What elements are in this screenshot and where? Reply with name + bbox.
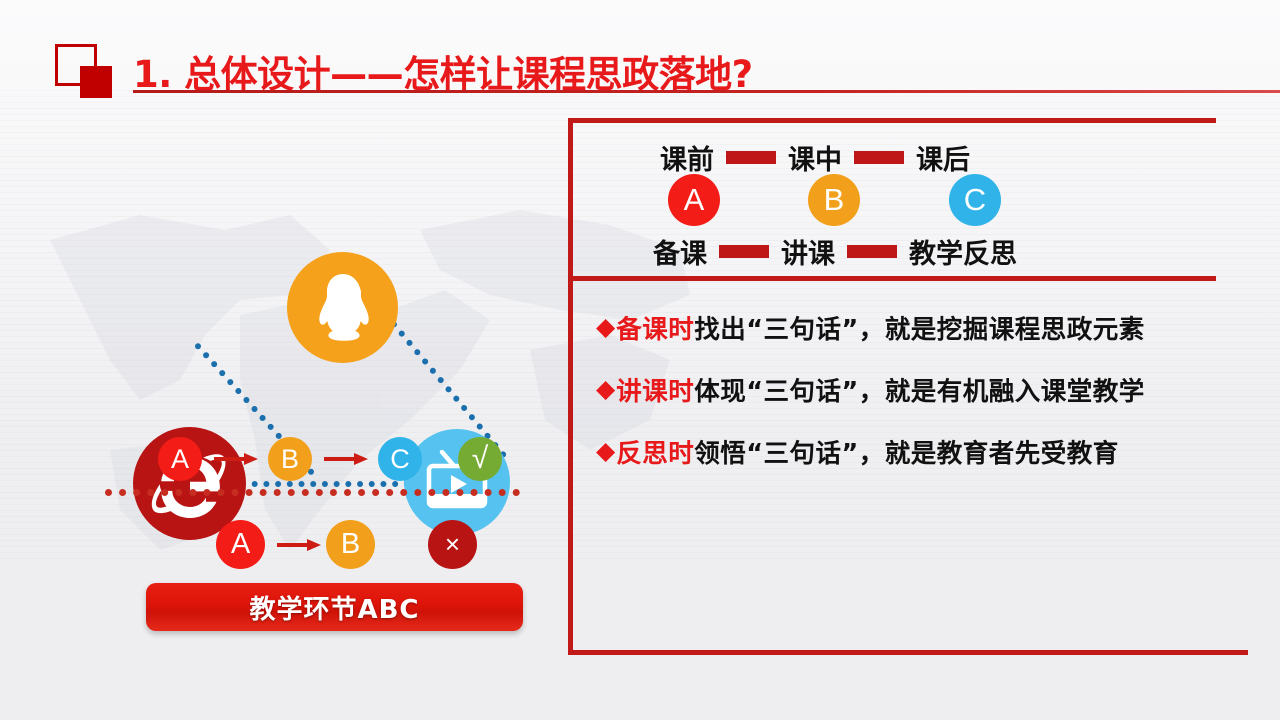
bullet-rest: 体现“三句话”，就是有机融入课堂教学 bbox=[694, 377, 1145, 407]
timeline-dash-icon bbox=[847, 245, 897, 258]
right-content-panel: 课前 课中 课后 A B C 备课 讲课 教学反思 ◆ 备课时找出“三句话”，就… bbox=[568, 118, 1248, 660]
timeline-dash-icon bbox=[726, 151, 776, 164]
bullet-text: 讲课时体现“三句话”，就是有机融入课堂教学 bbox=[616, 368, 1145, 416]
timeline-top-item-2: 课后 bbox=[916, 138, 970, 177]
timeline-badge-c[interactable]: C bbox=[949, 174, 1001, 226]
bullet-highlight: 反思时 bbox=[616, 439, 694, 469]
panel-border-left bbox=[568, 118, 573, 655]
qq-penguin-icon bbox=[314, 272, 372, 344]
timeline-top-item-1: 课中 bbox=[788, 138, 842, 177]
panel-border-top bbox=[568, 118, 1216, 123]
timeline-bottom-item-0: 备课 bbox=[653, 232, 707, 271]
bullet-highlight: 备课时 bbox=[616, 315, 694, 345]
list-item: ◆ 反思时领悟“三句话”，就是教育者先受教育 bbox=[596, 430, 1208, 478]
list-item: ◆ 备课时找出“三句话”，就是挖掘课程思政元素 bbox=[596, 306, 1208, 354]
diamond-bullet-icon: ◆ bbox=[596, 430, 615, 478]
flow-arrow-1 bbox=[214, 453, 258, 465]
bullet-text: 备课时找出“三句话”，就是挖掘课程思政元素 bbox=[616, 306, 1145, 354]
cross-badge[interactable]: × bbox=[428, 520, 477, 569]
flow2-badge-b[interactable]: B bbox=[326, 520, 375, 569]
title-underline bbox=[133, 90, 1280, 93]
timeline-dash-icon bbox=[854, 151, 904, 164]
slide-canvas: 1. 总体设计——怎样让课程思政落地? bbox=[0, 0, 1280, 720]
diamond-bullet-icon: ◆ bbox=[596, 306, 615, 354]
flow-badge-b[interactable]: B bbox=[268, 437, 312, 481]
slide-header: 1. 总体设计——怎样让课程思政落地? bbox=[0, 18, 1280, 90]
bullet-highlight: 讲课时 bbox=[616, 377, 694, 407]
qq-penguin-node[interactable] bbox=[287, 252, 398, 363]
flow-badge-c[interactable]: C bbox=[378, 437, 422, 481]
timeline-badge-a[interactable]: A bbox=[668, 174, 720, 226]
checkmark-badge[interactable]: √ bbox=[458, 437, 502, 481]
banner-label: 教学环节ABC bbox=[249, 589, 419, 626]
flow-badge-a[interactable]: A bbox=[158, 437, 202, 481]
bullet-rest: 领悟“三句话”，就是教育者先受教育 bbox=[694, 439, 1119, 469]
filled-square-icon bbox=[80, 66, 112, 98]
list-item: ◆ 讲课时体现“三句话”，就是有机融入课堂教学 bbox=[596, 368, 1208, 416]
bullet-text: 反思时领悟“三句话”，就是教育者先受教育 bbox=[616, 430, 1119, 478]
panel-divider bbox=[568, 276, 1216, 281]
diamond-bullet-icon: ◆ bbox=[596, 368, 615, 416]
dotted-connector-bottom bbox=[240, 481, 410, 487]
flow2-badge-a[interactable]: A bbox=[216, 520, 265, 569]
timeline-badge-b[interactable]: B bbox=[808, 174, 860, 226]
dotted-separator bbox=[105, 489, 520, 496]
timeline-bottom-item-1: 讲课 bbox=[781, 232, 835, 271]
timeline-bottom-labels: 备课 讲课 教学反思 bbox=[653, 232, 1017, 271]
timeline-dash-icon bbox=[719, 245, 769, 258]
timeline-top-item-0: 课前 bbox=[660, 138, 714, 177]
teaching-stage-banner[interactable]: 教学环节ABC bbox=[146, 583, 523, 631]
timeline-top-labels: 课前 课中 课后 bbox=[660, 138, 970, 177]
bullet-rest: 找出“三句话”，就是挖掘课程思政元素 bbox=[694, 315, 1145, 345]
bullet-list: ◆ 备课时找出“三句话”，就是挖掘课程思政元素 ◆ 讲课时体现“三句话”，就是有… bbox=[596, 306, 1208, 492]
teaching-flow-diagram: A B C √ A B × 教学环节ABC bbox=[0, 105, 560, 665]
flow-arrow-2 bbox=[324, 453, 368, 465]
timeline-circles: A B C bbox=[668, 174, 1098, 228]
panel-border-bottom bbox=[568, 650, 1248, 655]
timeline-bottom-item-2: 教学反思 bbox=[909, 232, 1017, 271]
flow2-arrow-1 bbox=[277, 539, 321, 551]
